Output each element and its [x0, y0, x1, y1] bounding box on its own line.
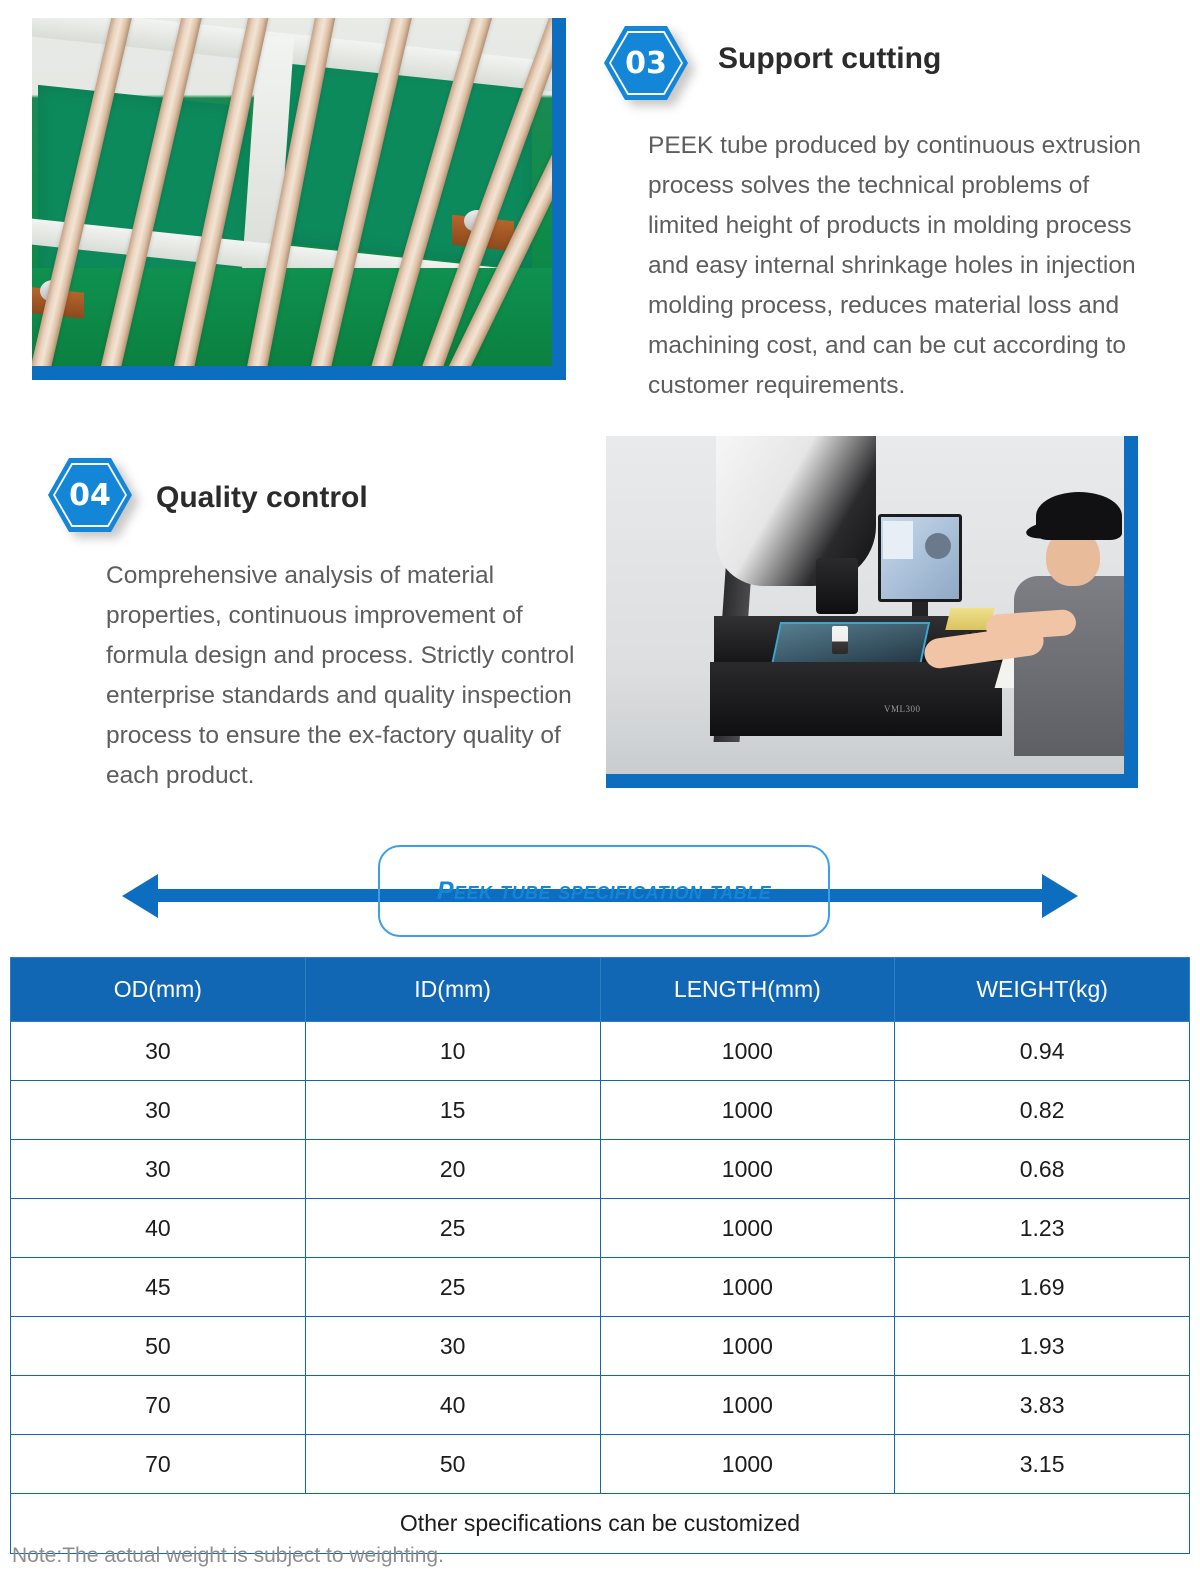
- machine-base: [710, 662, 1002, 736]
- cell-weight: 3.83: [895, 1376, 1190, 1435]
- banner-title: Peek tube specification table: [378, 845, 830, 937]
- technician-body: [1014, 576, 1124, 756]
- cell-length: 1000: [600, 1376, 895, 1435]
- table-body: 30 10 1000 0.94 30 15 1000 0.82 30 20 10…: [11, 1022, 1190, 1494]
- section-badge-04: 04: [48, 458, 132, 532]
- cell-id: 10: [305, 1022, 600, 1081]
- cell-id: 20: [305, 1140, 600, 1199]
- cell-length: 1000: [600, 1140, 895, 1199]
- cell-length: 1000: [600, 1199, 895, 1258]
- cell-id: 50: [305, 1435, 600, 1494]
- weight-note: Note:The actual weight is subject to wei…: [12, 1544, 444, 1568]
- cell-id: 25: [305, 1258, 600, 1317]
- column-header-weight: WEIGHT(kg): [895, 958, 1190, 1022]
- machine-model-label: VML300: [884, 704, 921, 714]
- qc-scene: VML300: [606, 436, 1124, 774]
- section-number: 04: [48, 458, 132, 532]
- photo-quality-control: VML300: [606, 436, 1138, 788]
- column-header-od: OD(mm): [11, 958, 306, 1022]
- table-row: 30 20 1000 0.68: [11, 1140, 1190, 1199]
- cell-weight: 0.94: [895, 1022, 1190, 1081]
- cell-od: 40: [11, 1199, 306, 1258]
- screen-measured-circle: [925, 533, 951, 559]
- table-row: 30 10 1000 0.94: [11, 1022, 1190, 1081]
- table-row: 40 25 1000 1.23: [11, 1199, 1190, 1258]
- tube-scene: [32, 18, 552, 366]
- photo-qc-image: VML300: [606, 436, 1124, 774]
- section-badge-03: 03: [604, 26, 688, 100]
- section-text-04: Comprehensive analysis of material prope…: [106, 556, 592, 796]
- monitor-screen: [881, 517, 959, 599]
- photo-peek-tubes: [32, 18, 566, 380]
- table-row: 70 40 1000 3.83: [11, 1376, 1190, 1435]
- cell-od: 70: [11, 1376, 306, 1435]
- cell-length: 1000: [600, 1258, 895, 1317]
- hexagon-icon: 03: [604, 26, 688, 100]
- sample-part: [832, 626, 848, 654]
- column-header-id: ID(mm): [305, 958, 600, 1022]
- arrow-right-icon: [1042, 874, 1078, 918]
- cell-od: 30: [11, 1081, 306, 1140]
- cell-id: 25: [305, 1199, 600, 1258]
- cell-od: 45: [11, 1258, 306, 1317]
- cell-od: 50: [11, 1317, 306, 1376]
- cell-od: 30: [11, 1140, 306, 1199]
- hexagon-icon: 04: [48, 458, 132, 532]
- cell-id: 15: [305, 1081, 600, 1140]
- cell-id: 30: [305, 1317, 600, 1376]
- table-head: OD(mm) ID(mm) LENGTH(mm) WEIGHT(kg): [11, 958, 1190, 1022]
- section-number: 03: [604, 26, 688, 100]
- photo-tubes-image: [32, 18, 552, 366]
- cell-weight: 3.15: [895, 1435, 1190, 1494]
- section-title-03: Support cutting: [718, 42, 941, 76]
- cell-length: 1000: [600, 1317, 895, 1376]
- table-row: 45 25 1000 1.69: [11, 1258, 1190, 1317]
- section-text-03: PEEK tube produced by continuous extrusi…: [648, 126, 1160, 406]
- cell-weight: 1.23: [895, 1199, 1190, 1258]
- specification-table: OD(mm) ID(mm) LENGTH(mm) WEIGHT(kg) 30 1…: [10, 957, 1190, 1554]
- cell-length: 1000: [600, 1022, 895, 1081]
- table-row: 50 30 1000 1.93: [11, 1317, 1190, 1376]
- screen-panel: [883, 521, 913, 559]
- cell-length: 1000: [600, 1081, 895, 1140]
- cell-length: 1000: [600, 1435, 895, 1494]
- cell-weight: 0.82: [895, 1081, 1190, 1140]
- cell-id: 40: [305, 1376, 600, 1435]
- monitor: [878, 514, 962, 602]
- cell-od: 70: [11, 1435, 306, 1494]
- table-row: 30 15 1000 0.82: [11, 1081, 1190, 1140]
- table-header-row: OD(mm) ID(mm) LENGTH(mm) WEIGHT(kg): [11, 958, 1190, 1022]
- cell-weight: 1.69: [895, 1258, 1190, 1317]
- camera-lens: [816, 558, 858, 614]
- cell-od: 30: [11, 1022, 306, 1081]
- table-row: 70 50 1000 3.15: [11, 1435, 1190, 1494]
- cell-weight: 1.93: [895, 1317, 1190, 1376]
- section-title-04: Quality control: [156, 481, 368, 515]
- column-header-length: LENGTH(mm): [600, 958, 895, 1022]
- cell-weight: 0.68: [895, 1140, 1190, 1199]
